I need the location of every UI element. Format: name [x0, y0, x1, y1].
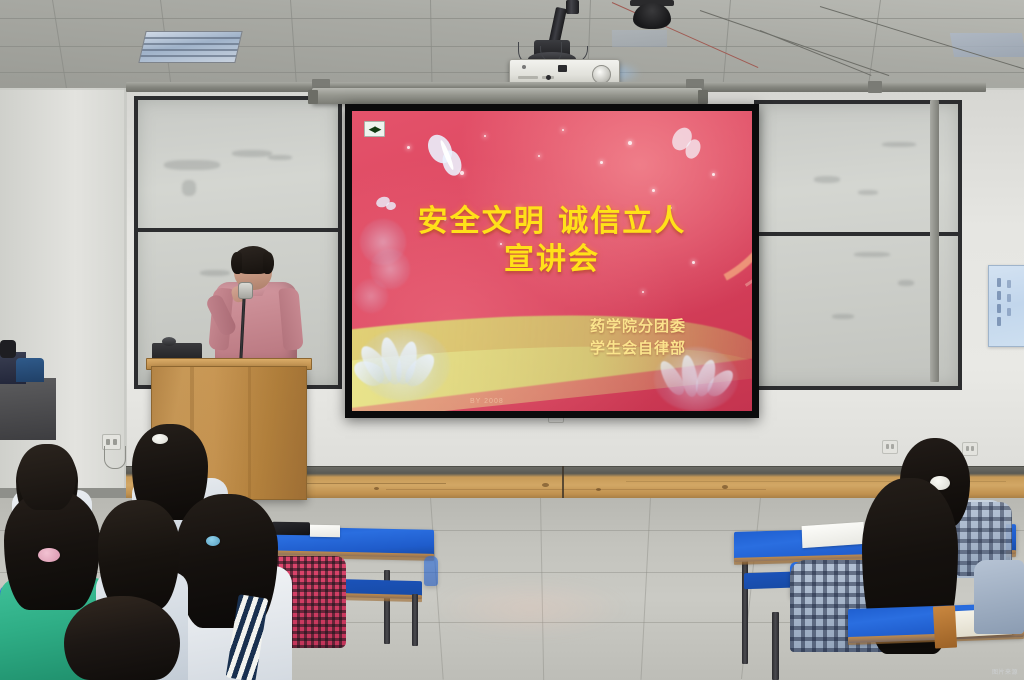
- stage-joint: [562, 466, 564, 502]
- presentation-slide: ◀▶ 安全文明 诚信立人 宣讲会 药学院分团: [352, 111, 752, 411]
- ceiling-grid-line: [0, 18, 1024, 19]
- slide-title-line-1: 安全文明 诚信立人: [352, 206, 752, 238]
- slide-subtitle-line-1: 药学院分团委: [590, 317, 686, 336]
- butterfly-decor-icon: [420, 133, 472, 186]
- paper-sheet[interactable]: [310, 525, 340, 538]
- screen-housing-end-cap: [698, 90, 708, 104]
- projector-port: [558, 65, 567, 72]
- presenter-hair-side: [231, 252, 242, 274]
- student-torso: [974, 560, 1024, 634]
- slide-credit: BY 2008: [470, 398, 504, 405]
- whiteboard-side-rail: [930, 100, 939, 382]
- ceiling-light-fixture-secondary: [950, 33, 1024, 57]
- butterfly-decor-icon: [668, 125, 708, 168]
- media-navigation-icon[interactable]: ◀▶: [364, 121, 385, 137]
- side-equipment: [0, 340, 16, 358]
- student-hair: [18, 444, 76, 510]
- slide-subtitle-line-2: 学生会自律部: [590, 339, 686, 358]
- side-person-silhouette: [16, 358, 44, 382]
- flower-decor: [354, 279, 388, 313]
- projection-screen: ◀▶ 安全文明 诚信立人 宣讲会 药学院分团: [345, 104, 759, 418]
- ceiling-light-fixture: [138, 31, 242, 63]
- projector-indicator: [522, 65, 526, 69]
- outlet-cable: [104, 446, 126, 469]
- presenter-hair-side: [263, 252, 274, 274]
- classroom-photo-scene: ◀▶ 安全文明 诚信立人 宣讲会 药学院分团: [0, 0, 1024, 680]
- paper-sheet[interactable]: [802, 522, 865, 548]
- chair-back: [424, 556, 438, 586]
- ceiling-vent: [612, 30, 667, 47]
- wall-seam: [124, 88, 127, 488]
- student-hair: [98, 500, 180, 610]
- microphone[interactable]: [238, 282, 253, 299]
- side-equipment-table: [0, 378, 56, 440]
- desk-leg: [772, 612, 779, 680]
- desk-leg: [412, 594, 418, 646]
- wall-power-outlet[interactable]: [882, 440, 898, 454]
- dome-security-camera: [633, 3, 671, 29]
- floor-light-reflection: [430, 578, 630, 638]
- projector-indicator: [546, 75, 551, 80]
- slide-title-line-2: 宣讲会: [352, 244, 752, 276]
- desk-corner: [933, 605, 957, 648]
- whiteboard-bracket: [868, 81, 882, 93]
- mobile-phone[interactable]: [272, 522, 310, 536]
- screen-housing-end-cap: [308, 90, 318, 104]
- hair-scrunchie: [152, 434, 168, 444]
- wall-notice-poster: [988, 265, 1024, 347]
- projector-pole: [566, 0, 579, 14]
- hair-clip: [206, 536, 220, 546]
- student-hair: [64, 596, 180, 680]
- screen-roller-housing: [312, 88, 702, 104]
- wall-power-outlet[interactable]: [962, 442, 978, 456]
- image-watermark: 图片来源: [992, 667, 1018, 676]
- projector-vent: [518, 76, 538, 79]
- hair-clip: [38, 548, 60, 562]
